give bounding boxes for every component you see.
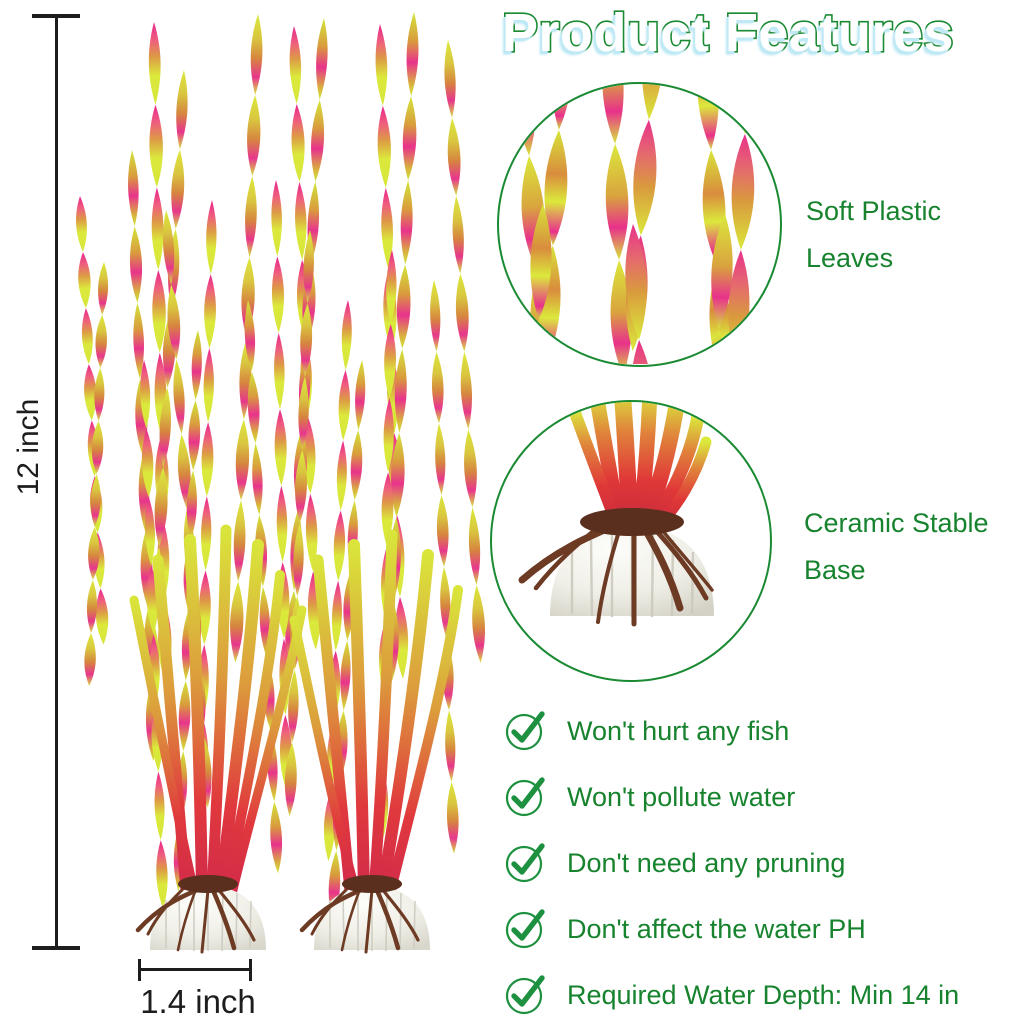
inset-photo-soft-plastic-leaves <box>497 82 782 367</box>
height-dimension-cap-top <box>32 14 80 18</box>
list-item: Required Water Depth: Min 14 in <box>503 962 1024 1028</box>
list-item: Don't need any pruning <box>503 830 1024 896</box>
check-circle-icon <box>503 709 547 753</box>
check-circle-icon <box>503 907 547 951</box>
width-dimension-cap-right <box>249 959 252 981</box>
check-circle-icon <box>503 973 547 1017</box>
check-circle-icon <box>503 841 547 885</box>
inset-photo-ceramic-stable-base <box>490 400 772 682</box>
check-circle-icon <box>503 775 547 819</box>
list-item: Won't pollute water <box>503 764 1024 830</box>
height-dimension-cap-bottom <box>32 946 80 950</box>
width-dimension-label: 1.4 inch <box>108 983 288 1021</box>
feature-label: Don't affect the water PH <box>567 914 866 945</box>
product-photo-aquarium-plant <box>62 0 492 960</box>
feature-label: Won't pollute water <box>567 782 795 813</box>
feature-list: Won't hurt any fish Won't pollute water … <box>503 698 1024 1028</box>
callout-label-ceramic-stable-base: Ceramic Stable Base <box>804 500 1024 594</box>
page-title: Product Features <box>432 2 1024 64</box>
list-item: Won't hurt any fish <box>503 698 1024 764</box>
feature-label: Required Water Depth: Min 14 in <box>567 980 959 1011</box>
width-dimension-cap-left <box>138 959 141 981</box>
height-dimension-label: 12 inch <box>12 392 46 502</box>
width-dimension-line <box>138 968 252 971</box>
callout-label-soft-plastic-leaves: Soft Plastic Leaves <box>806 188 1024 282</box>
height-dimension-line <box>55 16 58 950</box>
feature-label: Won't hurt any fish <box>567 716 789 747</box>
list-item: Don't affect the water PH <box>503 896 1024 962</box>
feature-label: Don't need any pruning <box>567 848 845 879</box>
